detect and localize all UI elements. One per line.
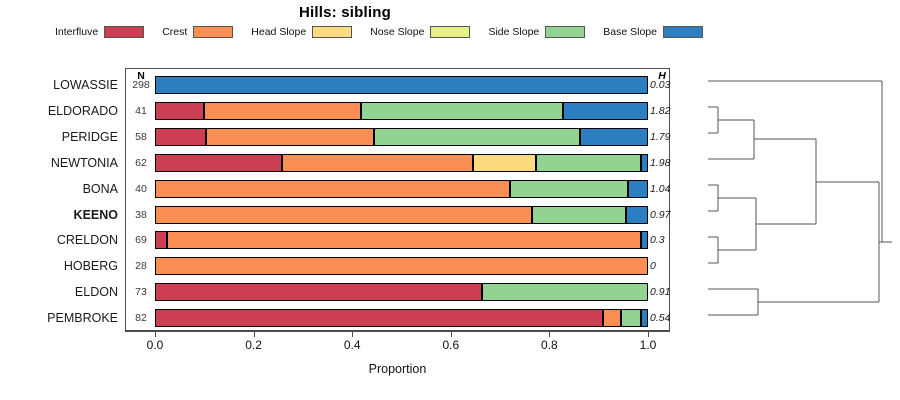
- bar-segment: [361, 102, 563, 120]
- row-label-peridge: PERIDGE: [0, 124, 118, 150]
- legend-entry: Base Slope: [603, 26, 703, 38]
- legend-label: Side Slope: [488, 26, 539, 38]
- row-n-value: 62: [126, 150, 156, 176]
- bar-segment: [155, 180, 510, 198]
- x-tick: [648, 331, 649, 337]
- bar-segment: [510, 180, 628, 198]
- stacked-bar: [155, 231, 648, 249]
- x-tick-label: 1.0: [628, 338, 668, 352]
- bar-segment: [155, 154, 282, 172]
- x-tick-label: 0.8: [529, 338, 569, 352]
- x-tick: [352, 331, 353, 337]
- x-tick-label: 0.2: [234, 338, 274, 352]
- row-h-value: 1.79: [650, 124, 684, 150]
- bar-segment: [155, 283, 482, 301]
- row-h-value: 0.3: [650, 227, 684, 253]
- x-tick: [254, 331, 255, 337]
- legend-swatch: [193, 26, 233, 38]
- row-label-lowassie: LOWASSIE: [0, 72, 118, 98]
- bar-segment: [155, 128, 206, 146]
- bar-segment: [563, 102, 648, 120]
- legend-label: Base Slope: [603, 26, 657, 38]
- legend-swatch: [312, 26, 352, 38]
- bar-segment: [282, 154, 473, 172]
- bar-segment: [155, 206, 532, 224]
- row-h-value: 0.97: [650, 202, 684, 228]
- dendrogram: [690, 60, 900, 345]
- row-h-value: 1.04: [650, 176, 684, 202]
- x-tick: [549, 331, 550, 337]
- legend-entry: Head Slope: [251, 26, 352, 38]
- legend-label: Head Slope: [251, 26, 306, 38]
- x-axis-title: Proportion: [125, 362, 670, 376]
- stacked-bar: [155, 102, 648, 120]
- x-axis-line: [125, 331, 670, 332]
- bar-segment: [155, 309, 603, 327]
- bar-segment: [206, 128, 375, 146]
- stacked-bar: [155, 206, 648, 224]
- bar-segment: [204, 102, 361, 120]
- bar-segment: [626, 206, 648, 224]
- x-tick-label: 0.0: [135, 338, 175, 352]
- row-h-value: 0.91: [650, 279, 684, 305]
- row-n-value: 298: [126, 72, 156, 98]
- legend-label: Interfluve: [55, 26, 98, 38]
- x-tick-label: 0.4: [332, 338, 372, 352]
- stacked-bar: [155, 283, 648, 301]
- chart-title: Hills: sibling: [0, 4, 690, 21]
- bar-segment: [532, 206, 626, 224]
- bar-segment: [167, 231, 640, 249]
- bar-segment: [155, 76, 648, 94]
- legend-entry: Nose Slope: [370, 26, 470, 38]
- bar-segment: [641, 309, 648, 327]
- x-tick: [155, 331, 156, 337]
- legend-swatch: [430, 26, 470, 38]
- bar-segment: [641, 231, 648, 249]
- row-h-value: 1.98: [650, 150, 684, 176]
- row-label-eldon: ELDON: [0, 279, 118, 305]
- legend-swatch: [104, 26, 144, 38]
- row-label-newtonia: NEWTONIA: [0, 150, 118, 176]
- row-label-keeno: KEENO: [0, 202, 118, 228]
- stacked-bar: [155, 128, 648, 146]
- legend-entry: Interfluve: [55, 26, 144, 38]
- legend: InterfluveCrestHead SlopeNose SlopeSide …: [55, 24, 855, 40]
- row-n-value: 41: [126, 98, 156, 124]
- bar-segment: [374, 128, 580, 146]
- bar-segment: [155, 257, 648, 275]
- stacked-bar: [155, 309, 648, 327]
- legend-label: Crest: [162, 26, 187, 38]
- bar-segment: [580, 128, 648, 146]
- bar-segment: [155, 231, 167, 249]
- bar-segment: [641, 154, 648, 172]
- x-tick-label: 0.6: [431, 338, 471, 352]
- bar-segment: [628, 180, 648, 198]
- row-n-value: 28: [126, 253, 156, 279]
- bar-segment: [473, 154, 536, 172]
- row-n-value: 58: [126, 124, 156, 150]
- bar-segment: [482, 283, 648, 301]
- stacked-bar: [155, 180, 648, 198]
- stacked-bar: [155, 76, 648, 94]
- legend-swatch: [545, 26, 585, 38]
- row-h-value: 0.03: [650, 72, 684, 98]
- row-h-value: 0.54: [650, 305, 684, 331]
- row-label-creldon: CRELDON: [0, 227, 118, 253]
- row-n-value: 40: [126, 176, 156, 202]
- row-label-eldorado: ELDORADO: [0, 98, 118, 124]
- legend-label: Nose Slope: [370, 26, 424, 38]
- x-tick: [451, 331, 452, 337]
- row-n-value: 69: [126, 227, 156, 253]
- row-label-hoberg: HOBERG: [0, 253, 118, 279]
- bar-segment: [536, 154, 641, 172]
- row-h-value: 1.82: [650, 98, 684, 124]
- chart-root: Hills: sibling InterfluveCrestHead Slope…: [0, 0, 900, 400]
- bar-segment: [621, 309, 641, 327]
- row-n-value: 38: [126, 202, 156, 228]
- row-label-pembroke: PEMBROKE: [0, 305, 118, 331]
- row-label-bona: BONA: [0, 176, 118, 202]
- bar-segment: [155, 102, 204, 120]
- stacked-bar: [155, 154, 648, 172]
- row-h-value: 0: [650, 253, 684, 279]
- stacked-bar: [155, 257, 648, 275]
- legend-entry: Crest: [162, 26, 233, 38]
- legend-swatch: [663, 26, 703, 38]
- bar-segment: [603, 309, 621, 327]
- legend-entry: Side Slope: [488, 26, 585, 38]
- row-n-value: 73: [126, 279, 156, 305]
- row-n-value: 82: [126, 305, 156, 331]
